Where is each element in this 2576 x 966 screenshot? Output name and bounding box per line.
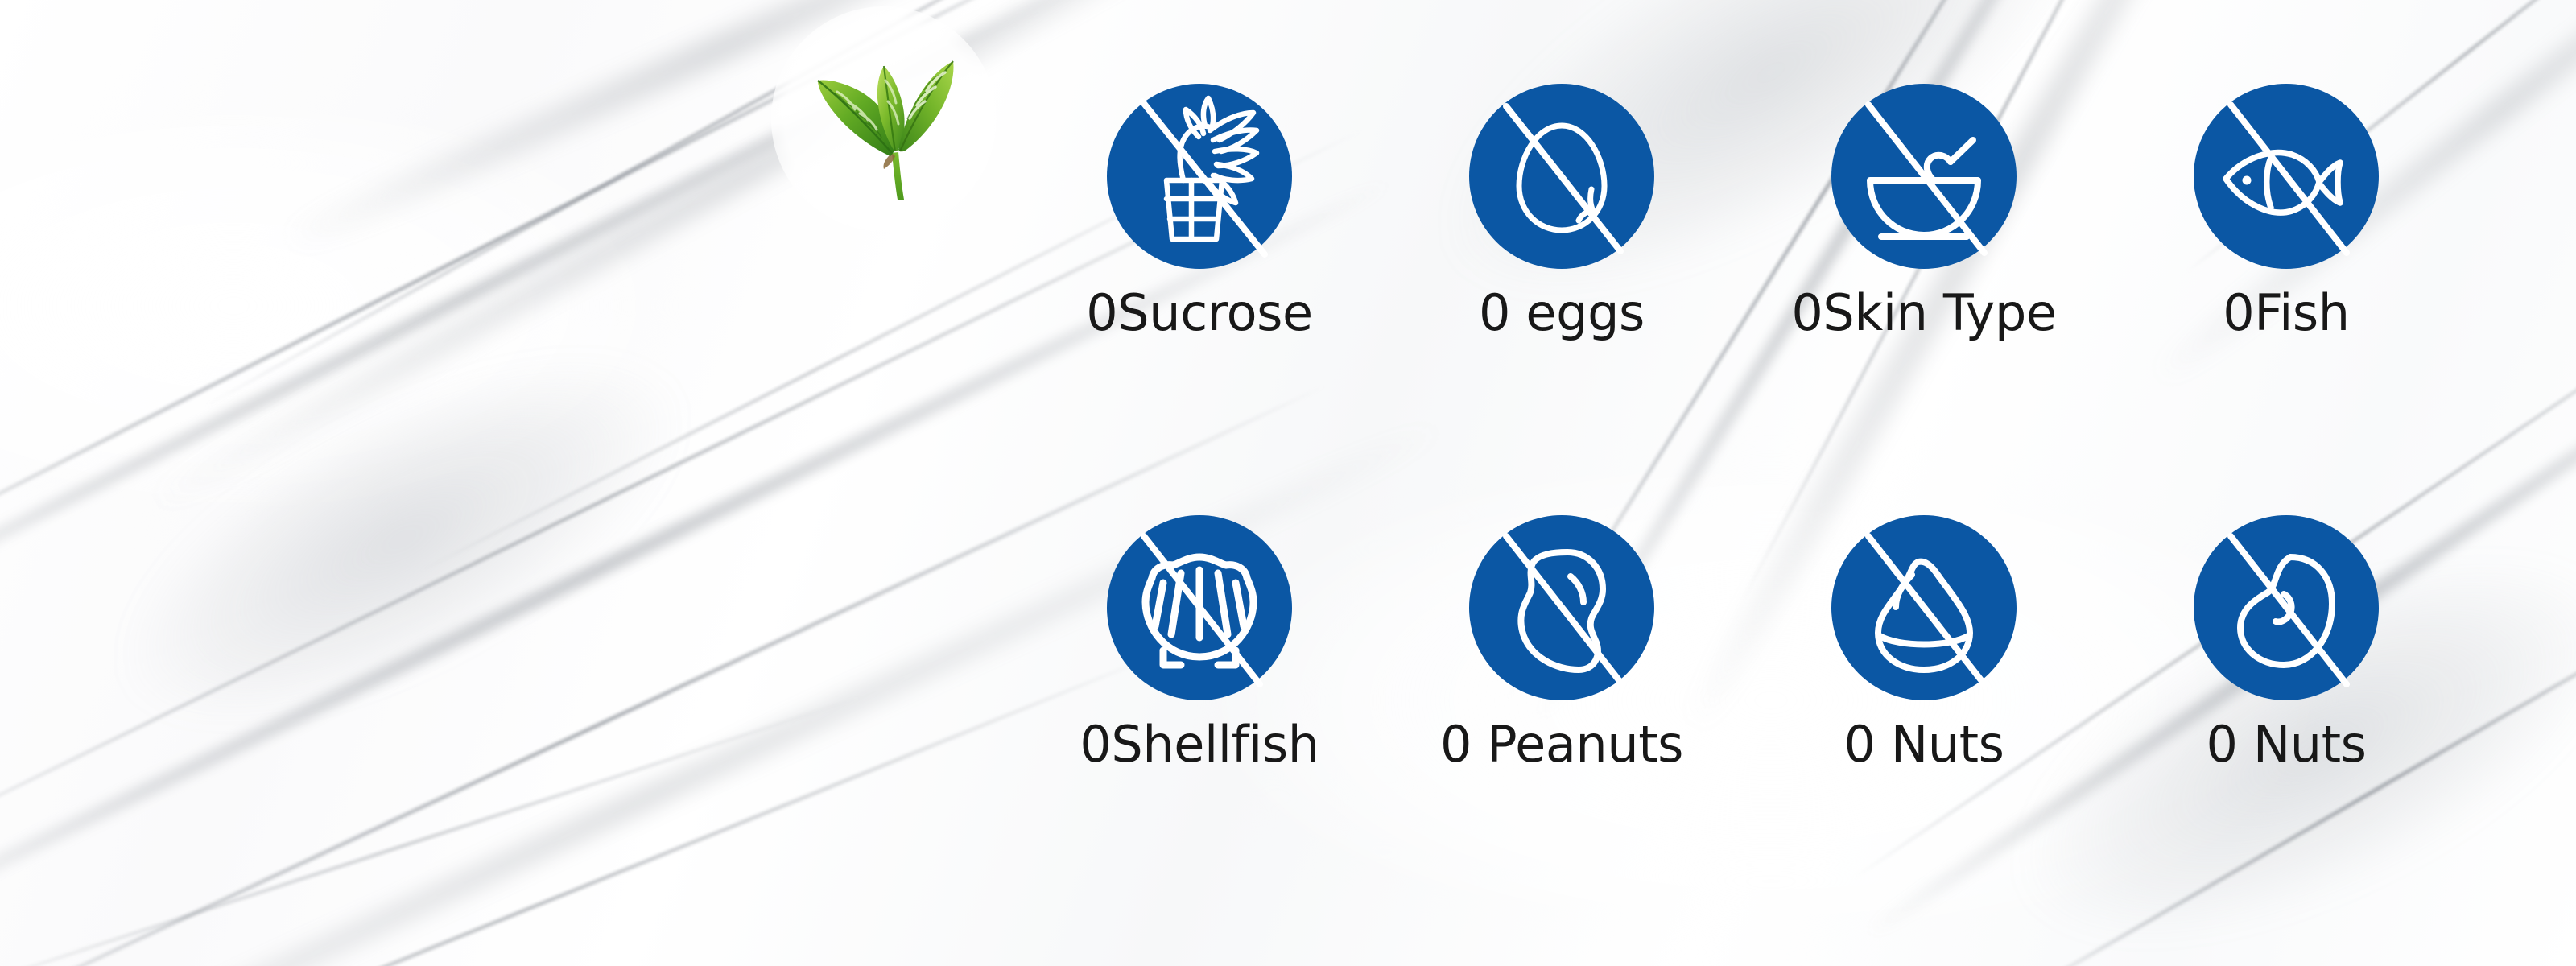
free-from-badges-banner: 0Sucrose 0 eggs (0, 0, 2576, 966)
fish-icon (2194, 84, 2379, 269)
cashew-nut-icon (2194, 515, 2379, 700)
acorn-nut-icon (1831, 515, 2017, 700)
badge-nuts-acorn[interactable]: 0 Nuts (1779, 515, 2069, 771)
badge-label: 0 eggs (1417, 287, 1707, 340)
scallop-shell-icon (1107, 515, 1292, 700)
badge-nuts-cashew[interactable]: 0 Nuts (2141, 515, 2431, 771)
badge-label: 0Fish (2141, 287, 2431, 340)
tea-leaf-logo (795, 27, 974, 214)
badge-peanuts[interactable]: 0 Peanuts (1417, 515, 1707, 771)
badge-shellfish[interactable]: 0Shellfish (1055, 515, 1344, 771)
peanut-icon (1469, 515, 1654, 700)
sugarcane-icon (1107, 84, 1292, 269)
logo (771, 6, 997, 232)
badge-sugarcane[interactable]: 0Sucrose (1055, 84, 1344, 340)
badge-label: 0Skin Type (1779, 287, 2069, 340)
badge-label: 0 Nuts (1779, 718, 2069, 771)
free-from-badge-grid: 0Sucrose 0 eggs (1055, 84, 2504, 897)
badge-fish[interactable]: 0Fish (2141, 84, 2431, 340)
badge-label: 0 Nuts (2141, 718, 2431, 771)
badge-label: 0Sucrose (1055, 287, 1344, 340)
badge-label: 0 Peanuts (1417, 718, 1707, 771)
badge-eggs[interactable]: 0 eggs (1417, 84, 1707, 340)
badge-skin-type[interactable]: 0Skin Type (1779, 84, 2069, 340)
badge-label: 0Shellfish (1055, 718, 1344, 771)
egg-icon (1469, 84, 1654, 269)
bowl-spoon-icon (1831, 84, 2017, 269)
